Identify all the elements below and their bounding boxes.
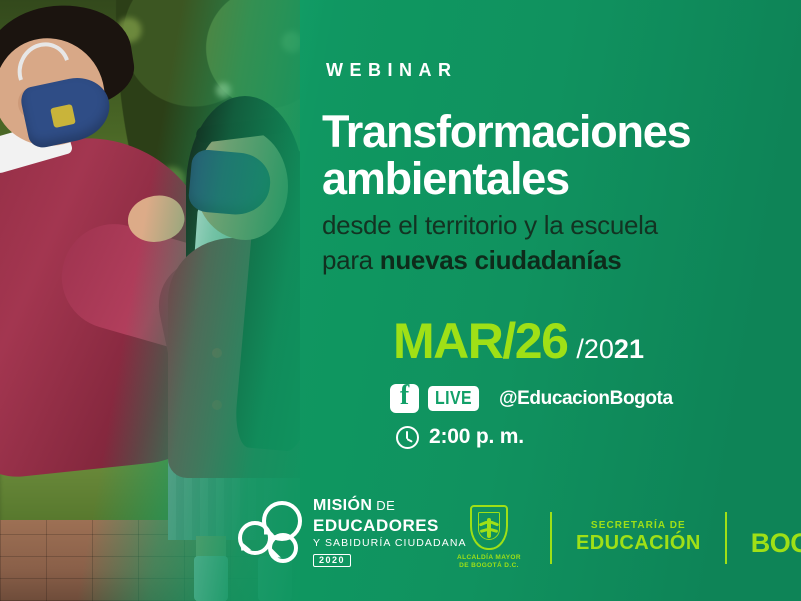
event-date-month-day: MAR/26 <box>393 316 567 366</box>
alcaldia-caption: ALCALDÍA MAYOR DE BOGOTÁ D.C. <box>452 554 526 570</box>
event-date: MAR/26 /2021 <box>393 316 644 374</box>
event-time-row: 2:00 p. m. <box>396 425 524 449</box>
bubble-tail-1 <box>236 541 251 555</box>
secretaria-educacion-logo: SECRETARÍA DE EDUCACIÓN <box>576 520 701 555</box>
event-time-label: 2:00 p. m. <box>429 425 524 449</box>
mision-word-de: DE <box>372 498 395 513</box>
bogota-logo: BOGOTΛ ★ ★ ★ <box>751 516 801 559</box>
secretaria-line-2: EDUCACIÓN <box>576 532 701 555</box>
alcaldia-caption-line-2: DE BOGOTÁ D.C. <box>452 562 526 570</box>
bubble-tail-3 <box>266 548 281 563</box>
bogota-wordmark: BOGOT <box>751 528 801 558</box>
live-badge: LIVE <box>428 386 479 411</box>
mision-line-3: Y SABIDURÍA CIUDADANA <box>313 538 467 549</box>
speech-bubbles-icon <box>238 501 304 563</box>
mision-line-1: MISIÓN DE <box>313 498 467 514</box>
page-title: Transformaciones ambientales <box>322 108 752 202</box>
mision-word-mision: MISIÓN <box>313 497 372 514</box>
subtitle-line-2-bold: nuevas ciudadanías <box>380 245 622 275</box>
government-logos: ALCALDÍA MAYOR DE BOGOTÁ D.C. SECRETARÍA… <box>452 505 801 570</box>
mision-year-badge: 2020 <box>313 554 351 567</box>
eagle-wing-right <box>490 520 499 526</box>
event-year-suffix: 21 <box>614 334 644 364</box>
event-date-year: /2021 <box>576 324 644 374</box>
mision-line-3-text: SABIDURÍA CIUDADANA <box>325 537 467 549</box>
facebook-handle[interactable]: @EducacionBogota <box>499 388 673 410</box>
secretaria-line-1: SECRETARÍA DE <box>576 520 701 531</box>
logo-divider-2 <box>725 512 727 564</box>
mision-text: MISIÓN DE EDUCADORES Y SABIDURÍA CIUDADA… <box>313 498 467 567</box>
mision-educadores-logo: MISIÓN DE EDUCADORES Y SABIDURÍA CIUDADA… <box>238 498 467 567</box>
poster-content: WEBINAR Transformaciones ambientales des… <box>0 0 801 601</box>
event-year-prefix: /20 <box>576 334 614 364</box>
facebook-live-row[interactable]: LIVE @EducacionBogota <box>390 384 673 413</box>
subtitle-line-1: desde el territorio y la escuela <box>322 210 658 241</box>
bogota-coat-of-arms-icon <box>470 505 508 550</box>
eagle-emblem-icon <box>479 518 499 540</box>
mision-line-3-prefix: Y <box>313 537 325 549</box>
logo-divider-1 <box>550 512 552 564</box>
facebook-icon[interactable] <box>390 384 419 413</box>
alcaldia-logo: ALCALDÍA MAYOR DE BOGOTÁ D.C. <box>452 505 526 570</box>
subtitle-line-2: para nuevas ciudadanías <box>322 245 621 276</box>
speech-bubble-3 <box>268 533 298 563</box>
eagle-feather-right <box>490 528 499 533</box>
eyebrow-label: WEBINAR <box>326 60 458 81</box>
subtitle-line-2-prefix: para <box>322 245 380 275</box>
title-line-1: Transformaciones <box>322 108 752 155</box>
clock-icon <box>396 426 419 449</box>
title-line-2: ambientales <box>322 155 752 202</box>
webinar-poster: WEBINAR Transformaciones ambientales des… <box>0 0 801 601</box>
mision-line-2: EDUCADORES <box>313 517 467 534</box>
alcaldia-caption-line-1: ALCALDÍA MAYOR <box>452 554 526 562</box>
